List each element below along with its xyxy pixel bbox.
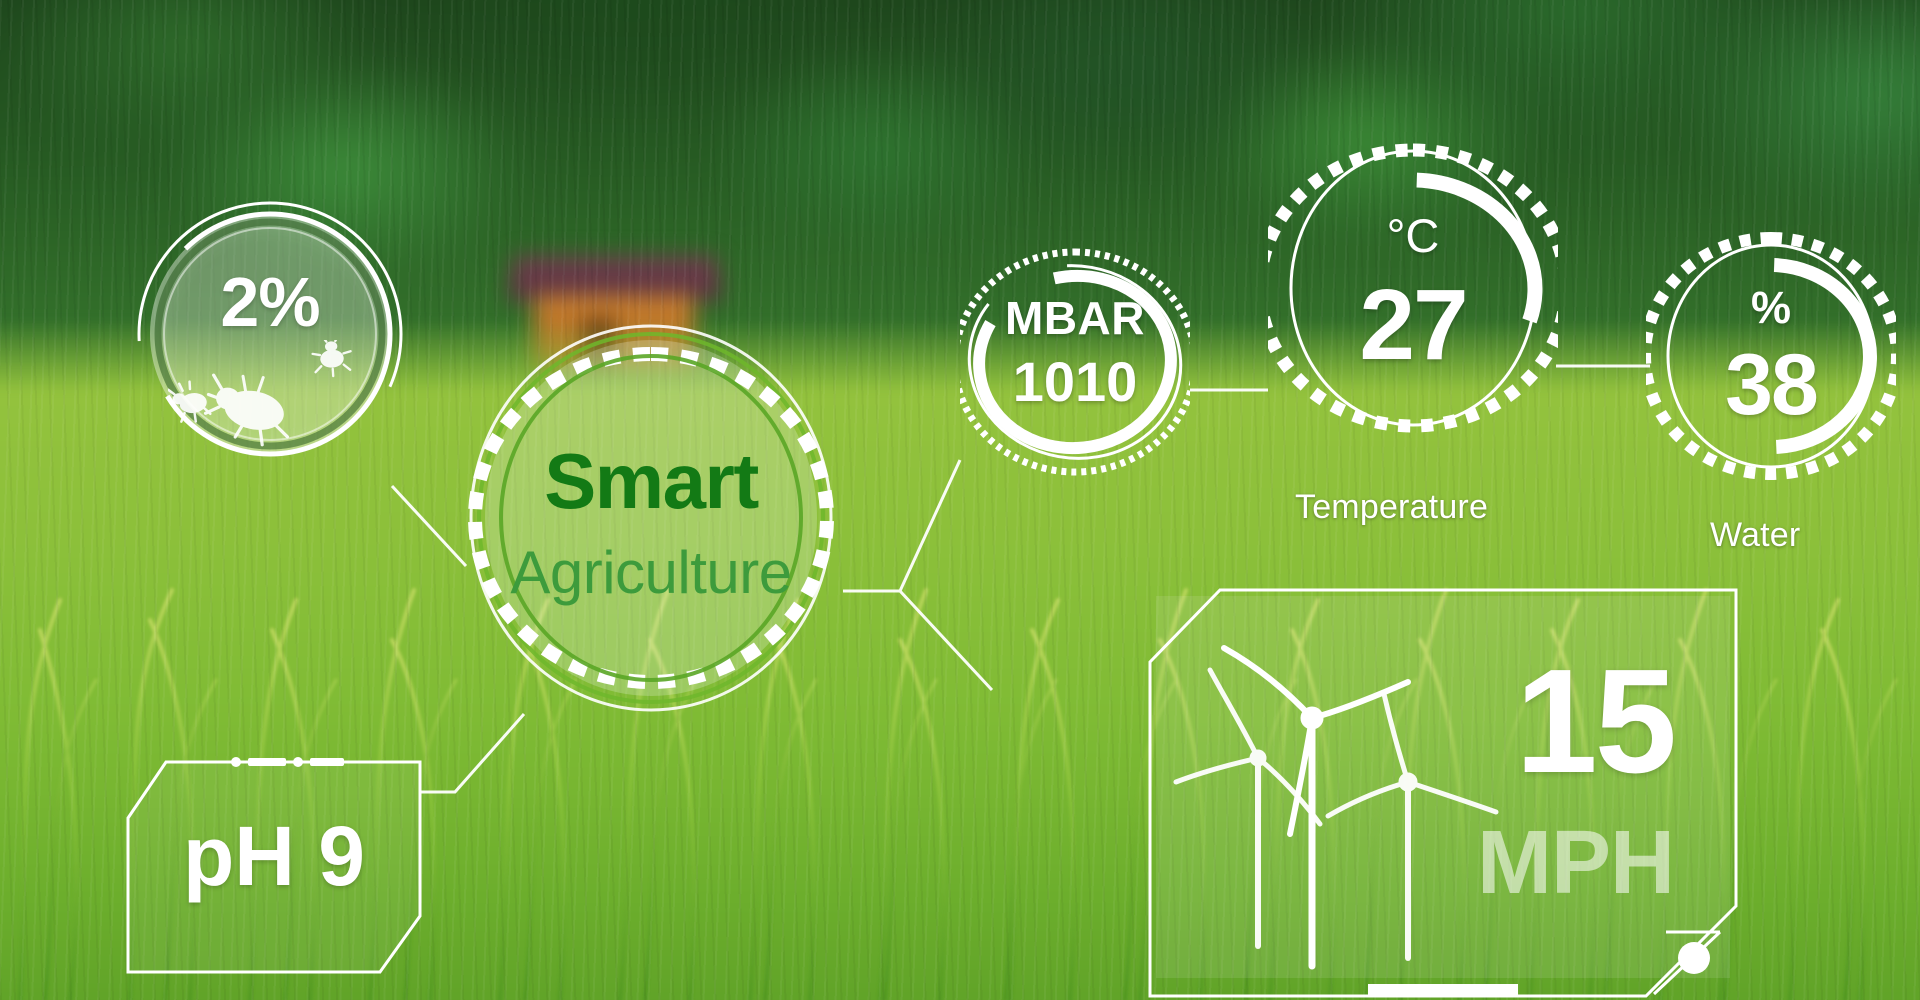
wind-panel-value: 15 xyxy=(1515,648,1674,796)
pest-gauge-value: 2% xyxy=(124,262,416,342)
temperature-gauge-value: 27 xyxy=(1268,268,1558,383)
pressure-gauge-unit: MBAR xyxy=(960,291,1190,345)
pressure-gauge[interactable]: MBAR 1010 xyxy=(960,237,1190,487)
insects-icon xyxy=(168,340,378,450)
connector-brand-to-ph xyxy=(420,714,524,792)
water-gauge-value: 38 xyxy=(1646,336,1896,435)
pest-gauge[interactable]: 2% xyxy=(124,188,416,480)
temperature-gauge[interactable]: °C 27 xyxy=(1268,128,1558,448)
connector-pest-to-brand xyxy=(392,486,466,566)
water-gauge-label: Water xyxy=(1710,516,1800,555)
pressure-gauge-value: 1010 xyxy=(960,349,1190,414)
wind-panel-unit: MPH xyxy=(1477,818,1674,908)
water-gauge[interactable]: % 38 xyxy=(1646,224,1896,489)
temperature-gauge-label: Temperature xyxy=(1295,488,1488,527)
temperature-gauge-unit: °C xyxy=(1268,208,1558,263)
wind-panel[interactable]: 15 MPH xyxy=(1146,586,1740,1000)
ph-panel[interactable]: pH 9 xyxy=(122,756,426,978)
ph-panel-value: pH 9 xyxy=(122,808,426,905)
connector-brand-to-wind xyxy=(843,591,992,690)
connector-brand-to-pressure xyxy=(843,460,960,591)
brand-subtitle: Agriculture xyxy=(463,538,839,607)
brand-badge[interactable]: Smart Agriculture xyxy=(463,318,839,718)
brand-title: Smart xyxy=(463,436,839,527)
water-gauge-unit: % xyxy=(1646,282,1896,334)
smart-agriculture-hud-scene: 2% xyxy=(0,0,1920,1000)
